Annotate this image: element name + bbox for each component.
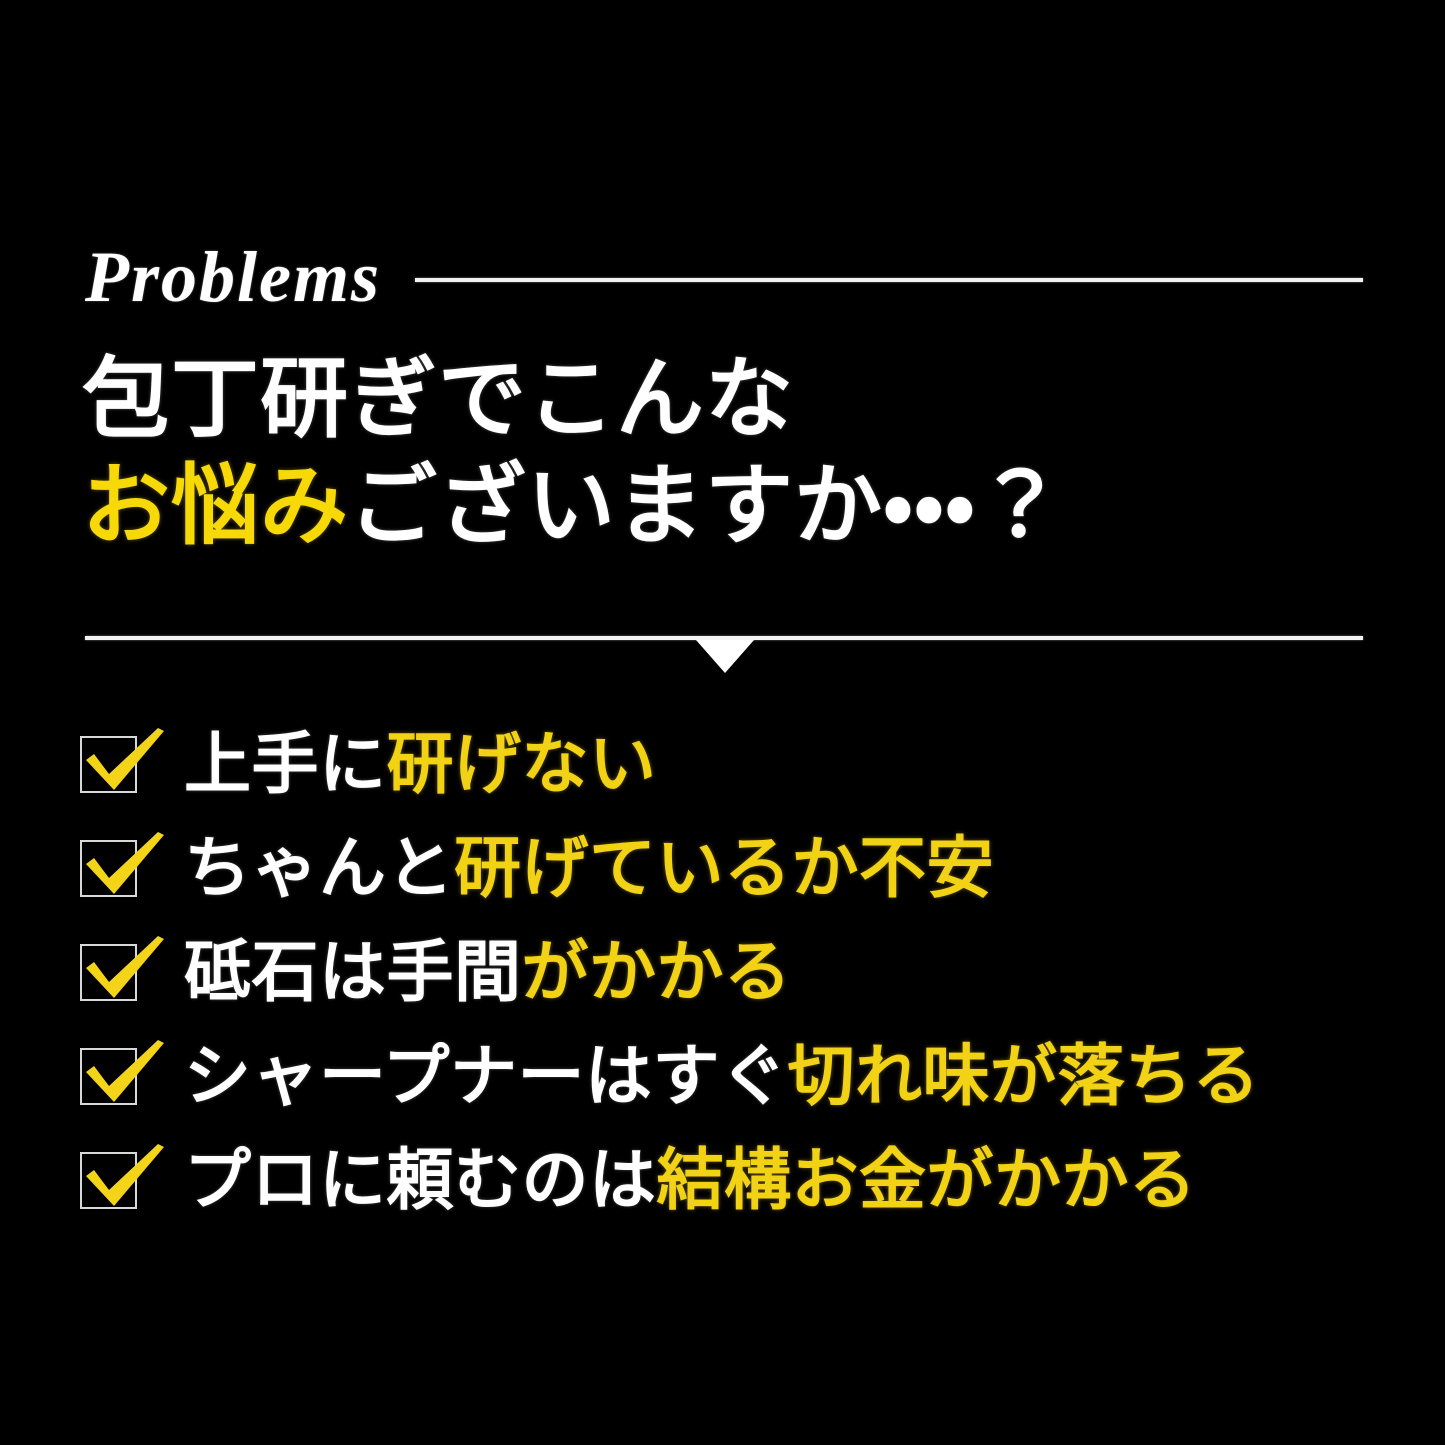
divider <box>85 636 1363 696</box>
list-item-text-yellow: 研げない <box>387 725 657 803</box>
checkmark-icon <box>78 1138 170 1216</box>
checkbox[interactable] <box>80 736 137 793</box>
list-item-label: 上手に研げない <box>184 731 657 798</box>
headline-line-1: 包丁研ぎでこんな <box>82 345 1382 452</box>
list-item-label: プロに頼むのは結構お金がかかる <box>184 1147 1197 1214</box>
list-item-text-white: シャープナーはすぐ <box>184 1037 787 1115</box>
triangle-down-icon <box>696 640 754 673</box>
list-item-text-yellow: 研げているか不安 <box>454 829 994 907</box>
eyebrow-row: Problems <box>85 232 1363 322</box>
checkbox[interactable] <box>80 840 137 897</box>
checkbox[interactable] <box>80 1048 137 1105</box>
list-item-text-yellow: 切れ味が落ちる <box>787 1037 1260 1115</box>
list-item-text-white: プロに頼むのは <box>184 1141 657 1219</box>
list-item-text-white: 砥石は手間 <box>184 933 522 1011</box>
headline-line-2-text: ございますか・・・？ <box>349 454 1065 557</box>
eyebrow-title: Problems <box>85 241 415 313</box>
checkmark-icon <box>78 722 170 800</box>
eyebrow-rule <box>415 278 1363 282</box>
checkmark-icon <box>78 1034 170 1112</box>
headline-line-1-text: 包丁研ぎでこんな <box>82 347 794 450</box>
list-item-text-white: 上手に <box>184 725 387 803</box>
list-item: 上手に研げない <box>80 712 1400 816</box>
headline-line-2: お悩みございますか・・・？ <box>82 452 1382 559</box>
list-item: プロに頼むのは結構お金がかかる <box>80 1128 1400 1232</box>
list-item-label: 砥石は手間がかかる <box>184 939 792 1006</box>
list-item: 砥石は手間がかかる <box>80 920 1400 1024</box>
checkmark-icon <box>78 826 170 904</box>
page-title: 包丁研ぎでこんな お悩みございますか・・・？ <box>82 345 1382 560</box>
checkmark-icon <box>78 930 170 1008</box>
checkbox[interactable] <box>80 944 137 1001</box>
headline-line-2-highlight: お悩み <box>82 454 349 557</box>
list-item-text-white: ちゃんと <box>184 829 454 907</box>
promo-banner: Problems 包丁研ぎでこんな お悩みございますか・・・？ 上手に研げない <box>0 0 1445 1445</box>
list-item-text-yellow: がかかる <box>522 933 792 1011</box>
checkbox[interactable] <box>80 1152 137 1209</box>
list-item-label: シャープナーはすぐ切れ味が落ちる <box>184 1043 1260 1110</box>
list-item: ちゃんと研げているか不安 <box>80 816 1400 920</box>
list-item: シャープナーはすぐ切れ味が落ちる <box>80 1024 1400 1128</box>
list-item-label: ちゃんと研げているか不安 <box>184 835 994 902</box>
list-item-text-yellow: 結構お金がかかる <box>657 1141 1197 1219</box>
problem-list: 上手に研げない ちゃんと研げているか不安 砥石は手間がかかる <box>80 712 1400 1232</box>
